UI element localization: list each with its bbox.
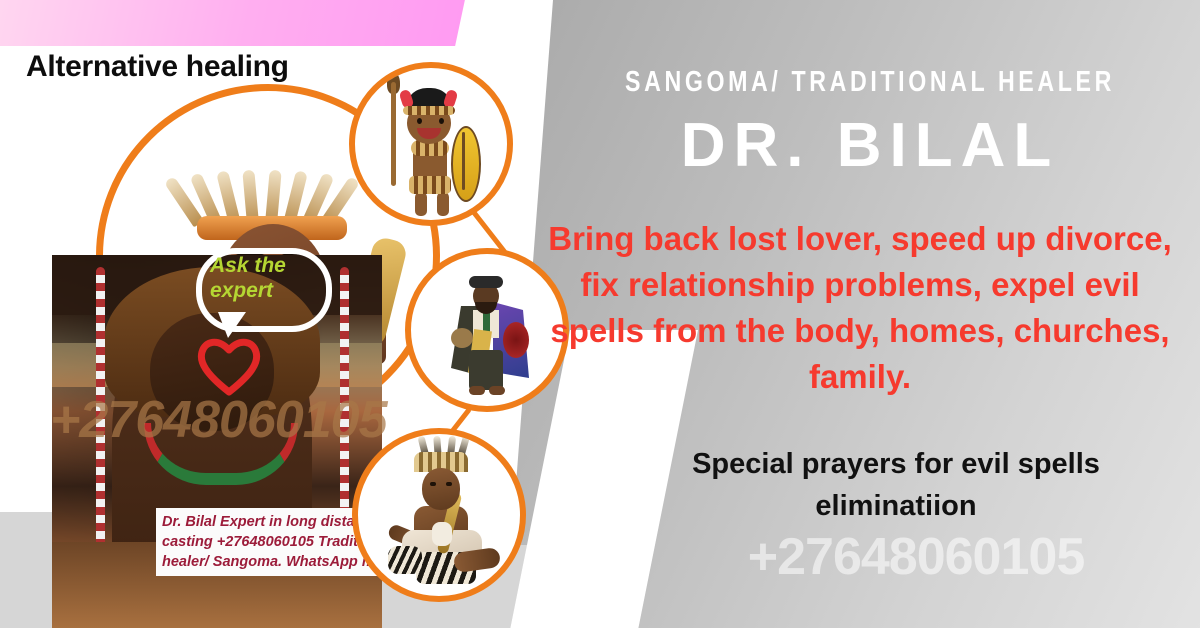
dancer-armband <box>432 522 452 546</box>
heart-icon <box>196 334 262 396</box>
robed-hat <box>469 276 503 288</box>
poster-canvas: Alternative healing <box>0 0 1200 628</box>
phone-watermark: +27648060105 <box>640 527 1192 587</box>
warrior-leg-left <box>415 192 427 216</box>
shoe-right <box>489 386 505 395</box>
circle-thumb-crouching-dancer <box>352 428 526 602</box>
speech-bubble-label: Ask the expert <box>210 253 320 303</box>
warrior-eye-left <box>417 118 422 124</box>
photo-caption: Dr. Bilal Expert in long distan casting … <box>156 508 382 576</box>
subtitle-kicker: SANGOMA/ TRADITIONAL HEALER <box>622 66 1118 99</box>
warrior-skirt <box>409 176 451 194</box>
dancer-face <box>422 468 460 510</box>
warrior-eye-right <box>439 118 444 124</box>
warrior-leg-right <box>437 192 449 216</box>
dancer-fur-ornament <box>388 546 422 574</box>
brand-name: DR. BILAL <box>560 110 1180 181</box>
caption-line-1: Dr. Bilal Expert in long distan <box>162 512 376 532</box>
satchel-icon <box>451 328 473 348</box>
circle-thumb-zulu-warrior <box>349 62 513 226</box>
caption-line-3: healer/ Sangoma. WhatsApp m <box>162 552 376 572</box>
page-title: Alternative healing <box>26 50 289 84</box>
caption-line-2: casting +27648060105 Traditio <box>162 532 376 552</box>
prayers-text: Special prayers for evil spells eliminat… <box>612 443 1180 527</box>
dancer-eye-left <box>430 482 436 486</box>
pink-gradient-band <box>0 0 465 46</box>
spear-icon <box>391 82 396 186</box>
robe-red-emblem <box>503 322 529 358</box>
dancer-eye-right <box>446 482 452 486</box>
shield-stick <box>462 132 465 190</box>
warrior-headband <box>403 106 455 115</box>
shoe-left <box>469 386 485 395</box>
robe-trousers <box>469 350 503 390</box>
services-text: Bring back lost lover, speed up divorce,… <box>542 216 1178 400</box>
photo-phone-watermark: +27648060105 <box>50 390 387 450</box>
shield-icon <box>451 126 481 202</box>
